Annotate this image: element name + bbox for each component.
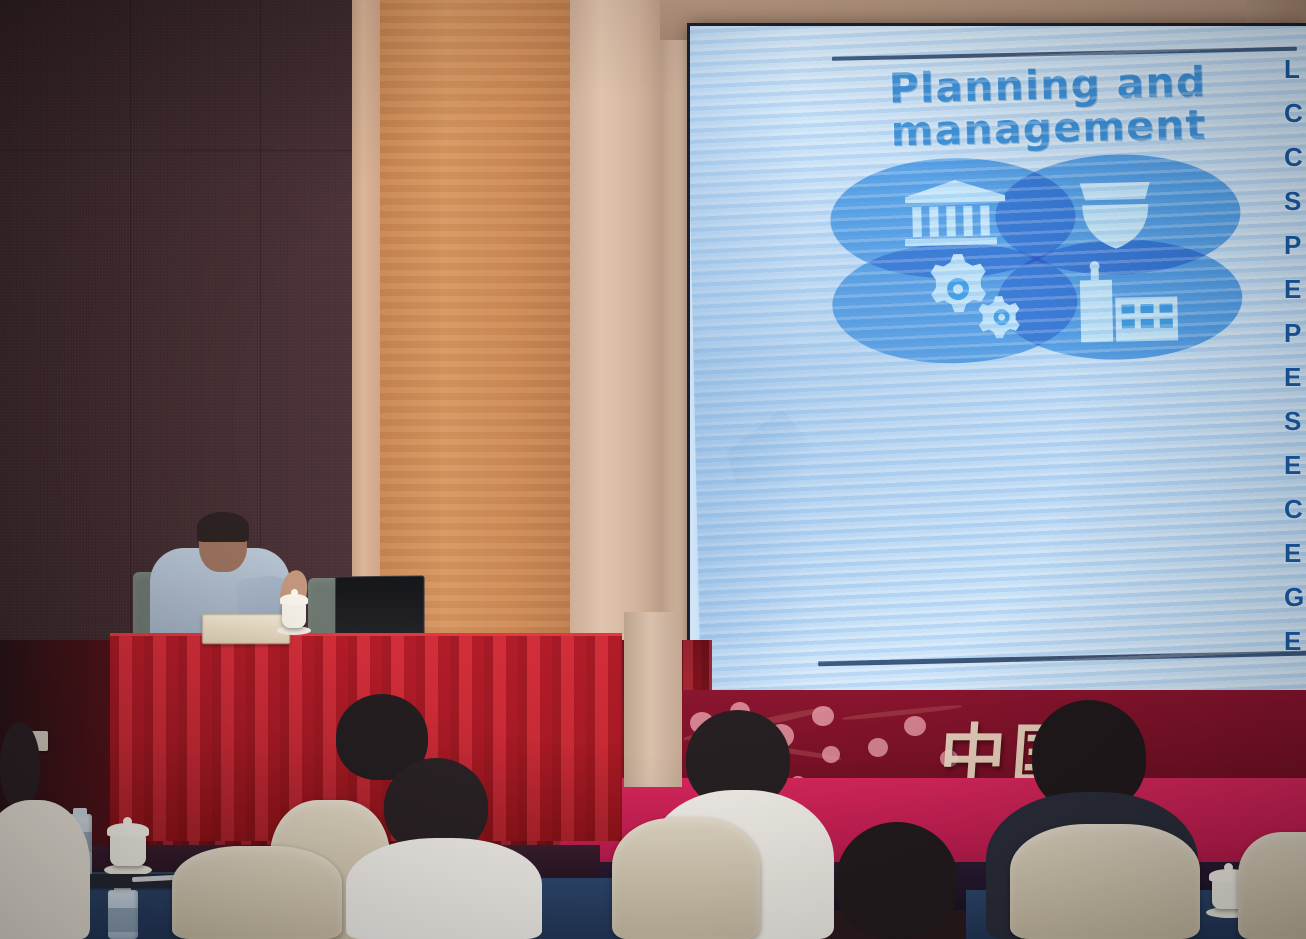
slide-bullet-letter: L (1284, 56, 1300, 82)
audience-shoulders-2 (346, 838, 542, 939)
slide-clipped-text-column: LCCSPEPESECEGE (1282, 56, 1306, 696)
slide-rule-top (832, 47, 1297, 61)
audience-head-6 (0, 722, 40, 808)
slide-bullet-letter: E (1284, 276, 1301, 302)
audience-teacup-1-knob (123, 817, 132, 826)
slide-bullet-letter: S (1284, 408, 1301, 434)
speaker-hair (197, 512, 249, 542)
audience-chair-5 (1010, 824, 1200, 939)
slide-bullet-letter: E (1284, 628, 1301, 654)
wood-wall-panel (380, 0, 570, 640)
audience-chair-3 (612, 818, 760, 939)
slide-bullet-letter: C (1284, 100, 1303, 126)
laptop (335, 575, 425, 636)
audience-chair-7 (1238, 832, 1306, 939)
slide-bullet-letter: C (1284, 496, 1303, 522)
slide-bullet-letter: E (1284, 452, 1301, 478)
water-bottle-1-cap (73, 808, 87, 817)
slide-bullet-letter: E (1284, 364, 1301, 390)
audience-teacup-1 (110, 834, 146, 866)
slide-bullet-letter: C (1284, 144, 1303, 170)
audience-teacup-2-knob (1224, 863, 1233, 872)
slide-bullet-letter: P (1284, 232, 1301, 258)
stage-side-pillar (624, 612, 682, 787)
slide-bullet-letter: G (1284, 584, 1304, 610)
slide-surface: Planning and management (690, 26, 1306, 698)
screen-ghost-band (693, 342, 889, 646)
slide-bullet-letter: P (1284, 320, 1301, 346)
audience-head-4 (836, 822, 958, 939)
speaker-teacup (282, 602, 306, 628)
slide-rule-bottom (818, 650, 1306, 666)
slide-title-line-2: management (838, 103, 1259, 155)
speaker-teacup-knob (291, 589, 298, 596)
slide-bullet-letter: E (1284, 540, 1301, 566)
water-bottle-2-label (108, 908, 138, 932)
conference-photo: Planning and management (0, 0, 1306, 939)
audience-chair-2 (172, 846, 342, 939)
slide-bullet-letter: S (1284, 188, 1301, 214)
wall-pillar-center (570, 0, 660, 700)
venn-diagram (829, 152, 1243, 366)
wall-pillar-left (352, 0, 380, 640)
audience-shoulders-6 (0, 800, 90, 939)
left-acoustic-wall (0, 0, 352, 640)
projection-screen: Planning and management (690, 26, 1306, 698)
slide-title: Planning and management (837, 60, 1259, 155)
